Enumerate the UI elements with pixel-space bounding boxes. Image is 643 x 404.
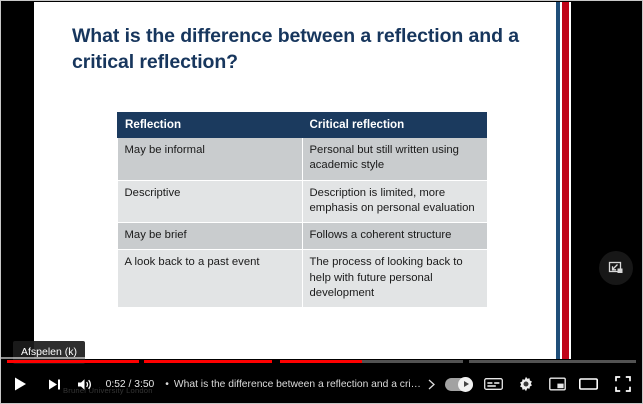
video-player[interactable]: What is the difference between a reflect… xyxy=(0,0,643,404)
slide-title: What is the difference between a reflect… xyxy=(72,24,542,75)
slide-decor-bar-blue xyxy=(556,2,560,359)
volume-button[interactable] xyxy=(70,365,102,403)
play-button[interactable] xyxy=(1,365,38,403)
cell-reflection: May be brief xyxy=(118,223,303,250)
table-row: May be brief Follows a coherent structur… xyxy=(118,223,487,250)
autoplay-toggle[interactable] xyxy=(445,378,473,391)
next-video-button[interactable] xyxy=(38,365,70,403)
chapter-segment[interactable] xyxy=(469,360,636,363)
chevron-right-icon xyxy=(427,379,436,390)
chapter-segment[interactable] xyxy=(280,360,463,363)
controls-button-row: 0:52 / 3:50 • What is the difference bet… xyxy=(1,365,642,403)
volume-icon xyxy=(77,377,94,392)
cell-critical-reflection: Personal but still written using academi… xyxy=(302,138,487,181)
miniplayer-button[interactable] xyxy=(541,365,573,403)
chapter-next-button[interactable] xyxy=(422,365,441,403)
theater-mode-button[interactable] xyxy=(573,365,605,403)
fullscreen-button[interactable] xyxy=(605,365,642,403)
theater-mode-icon xyxy=(579,377,598,391)
comparison-table: Reflection Critical reflection May be in… xyxy=(117,112,487,308)
chapter-title[interactable]: What is the difference between a reflect… xyxy=(174,379,422,390)
chapter-segment[interactable] xyxy=(144,360,272,363)
cell-critical-reflection: Follows a coherent structure xyxy=(302,223,487,250)
settings-button[interactable] xyxy=(510,365,542,403)
chapter-separator: • xyxy=(160,379,174,390)
time-display: 0:52 / 3:50 xyxy=(102,379,161,390)
cell-reflection: A look back to a past event xyxy=(118,250,303,308)
cell-critical-reflection: The process of looking back to help with… xyxy=(302,250,487,308)
progress-hover-indicator xyxy=(1,357,179,359)
pop-out-player-button[interactable] xyxy=(599,251,633,285)
table-row: May be informal Personal but still writt… xyxy=(118,138,487,181)
table-row: Descriptive Description is limited, more… xyxy=(118,180,487,223)
cell-critical-reflection: Description is limited, more emphasis on… xyxy=(302,180,487,223)
column-header-reflection: Reflection xyxy=(118,113,303,138)
chapter-segment[interactable] xyxy=(7,360,138,363)
player-controls-bar[interactable]: Brunel University London xyxy=(1,359,642,403)
next-track-icon xyxy=(47,377,62,392)
cell-reflection: Descriptive xyxy=(118,180,303,223)
autoplay-toggle-button[interactable] xyxy=(441,365,478,403)
subtitles-icon xyxy=(484,377,503,391)
pop-out-icon xyxy=(608,260,625,277)
subtitles-button[interactable] xyxy=(478,365,510,403)
slide-decor-bar-red xyxy=(562,2,569,359)
gear-icon xyxy=(518,376,534,392)
cell-reflection: May be informal xyxy=(118,138,303,181)
table-row: A look back to a past event The process … xyxy=(118,250,487,308)
play-icon xyxy=(12,376,28,392)
progress-bar[interactable] xyxy=(1,359,642,364)
slide-content: What is the difference between a reflect… xyxy=(34,2,571,359)
fullscreen-icon xyxy=(615,376,631,392)
miniplayer-icon xyxy=(549,377,566,391)
column-header-critical-reflection: Critical reflection xyxy=(302,113,487,138)
table-header-row: Reflection Critical reflection xyxy=(118,113,487,138)
autoplay-knob xyxy=(458,377,473,392)
